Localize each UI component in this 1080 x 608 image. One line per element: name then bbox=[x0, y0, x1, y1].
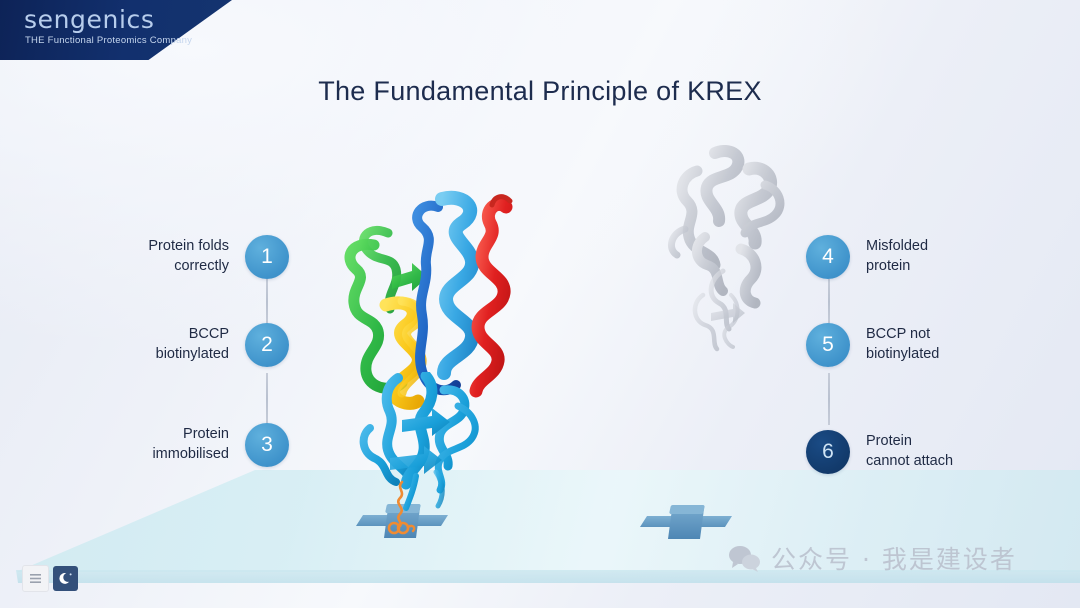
step-3-number: 3 bbox=[245, 423, 289, 467]
bottom-left-widget[interactable] bbox=[22, 565, 78, 592]
list-button[interactable] bbox=[22, 565, 49, 592]
connector-4-5 bbox=[828, 279, 830, 325]
array-surface-slide bbox=[0, 470, 1080, 608]
connector-2-3 bbox=[266, 373, 268, 425]
list-lines-icon bbox=[29, 573, 42, 584]
connector-5-6 bbox=[828, 373, 830, 425]
step-2-label: BCCP biotinylated bbox=[156, 325, 229, 364]
anchor-cap bbox=[669, 505, 705, 514]
step-2[interactable]: BCCP biotinylated 2 bbox=[95, 323, 289, 367]
dark-mode-button[interactable] bbox=[53, 566, 78, 591]
slide-canvas: sengenics THE Functional Proteomics Comp… bbox=[0, 0, 1080, 608]
step-6-number: 6 bbox=[806, 430, 850, 474]
page-title: The Fundamental Principle of KREX bbox=[0, 76, 1080, 107]
step-6-label: Protein cannot attach bbox=[866, 432, 953, 471]
step-1-number: 1 bbox=[245, 235, 289, 279]
biotin-linker bbox=[372, 480, 432, 540]
surface-front-edge bbox=[16, 570, 1080, 583]
step-4-number: 4 bbox=[806, 235, 850, 279]
brand-tagline: THE Functional Proteomics Company bbox=[25, 35, 192, 46]
misfolded-protein-ribbon bbox=[645, 145, 820, 360]
step-4-label: Misfolded protein bbox=[866, 237, 928, 276]
step-1[interactable]: Protein folds correctly 1 bbox=[95, 235, 289, 279]
connector-1-2 bbox=[266, 279, 268, 325]
step-5[interactable]: 5 BCCP not biotinylated bbox=[806, 323, 939, 367]
surface-top-face bbox=[0, 470, 1080, 572]
moon-icon bbox=[58, 571, 74, 587]
brand-logo: sengenics bbox=[24, 5, 154, 34]
step-2-number: 2 bbox=[245, 323, 289, 367]
step-1-label: Protein folds correctly bbox=[148, 237, 229, 276]
step-3-label: Protein immobilised bbox=[152, 425, 229, 464]
step-3[interactable]: Protein immobilised 3 bbox=[95, 423, 289, 467]
step-4[interactable]: 4 Misfolded protein bbox=[806, 235, 928, 279]
step-6[interactable]: 6 Protein cannot attach bbox=[806, 430, 953, 474]
streptavidin-anchor-right bbox=[640, 503, 732, 543]
step-5-number: 5 bbox=[806, 323, 850, 367]
step-5-label: BCCP not biotinylated bbox=[866, 325, 939, 364]
